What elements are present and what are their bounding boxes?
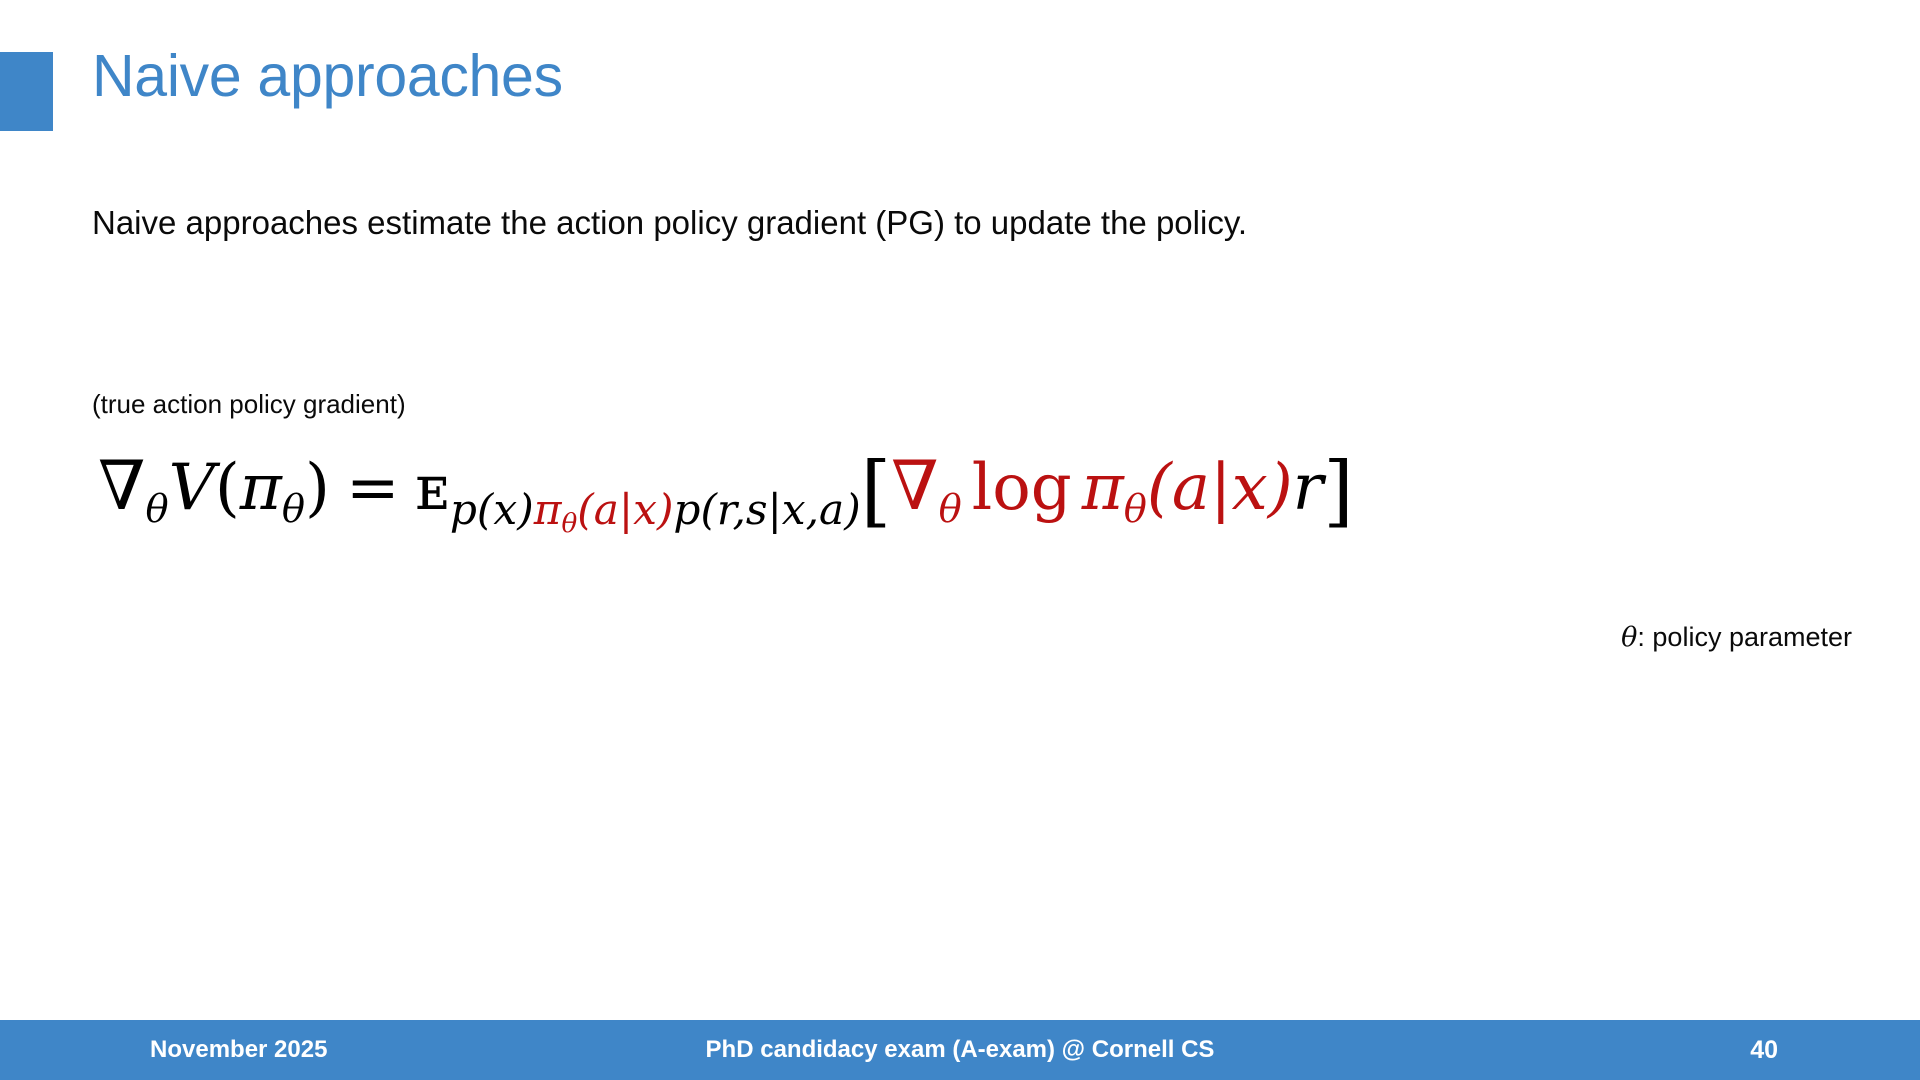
formula-expectation-subscript: p(x)πθ(a|x)p(r,s|x,a) (450, 485, 861, 534)
formula-rhs-nabla-subscript: θ (939, 486, 962, 531)
formula-rhs-policy-symbol: π (1082, 451, 1124, 525)
formula-caption: (true action policy gradient) (92, 389, 406, 420)
formula-sub-policy-theta: θ (561, 508, 577, 538)
formula-nabla-icon: ∇ (98, 447, 145, 526)
parameter-note-text: : policy parameter (1637, 622, 1852, 652)
theta-symbol: θ (1621, 622, 1637, 653)
parameter-note: θ: policy parameter (1621, 622, 1852, 653)
policy-gradient-formula: ∇θV(πθ)=ᴇp(x)πθ(a|x)p(r,s|x,a)[∇θlogπθ(a… (98, 452, 1354, 537)
formula-reward: r (1293, 451, 1324, 525)
body-paragraph: Naive approaches estimate the action pol… (92, 203, 1247, 243)
formula-policy-subscript: θ (282, 486, 305, 531)
formula-equals: = (346, 451, 400, 525)
formula-sub-state-dist: p(x) (450, 485, 534, 534)
formula-sub-transition: p(r,s|x,a) (673, 485, 860, 534)
formula-policy-symbol: π (240, 451, 282, 525)
formula-bracket-open: [ (861, 446, 891, 536)
formula-value-function: V (169, 451, 215, 525)
formula-sub-policy-args: (a|x) (577, 485, 673, 534)
footer-title: PhD candidacy exam (A-exam) @ Cornell CS (0, 1020, 1920, 1080)
formula-rhs-policy-args: (a|x) (1147, 451, 1293, 525)
formula-log: log (972, 451, 1072, 525)
slide-footer: November 2025 PhD candidacy exam (A-exam… (0, 1020, 1920, 1080)
formula-bracket-close: ] (1323, 446, 1353, 536)
footer-page-number: 40 (1750, 1020, 1778, 1080)
title-accent-bar (0, 52, 53, 131)
formula-nabla-subscript: θ (145, 486, 168, 531)
formula-rhs-nabla-icon: ∇ (891, 447, 938, 526)
page-title: Naive approaches (92, 46, 563, 108)
formula-sub-policy: π (534, 485, 562, 534)
slide: Naive approaches Naive approaches estima… (0, 0, 1920, 1080)
formula-paren-close: ) (305, 451, 330, 525)
formula-paren-open: ( (215, 451, 240, 525)
formula-expectation-symbol: ᴇ (416, 451, 450, 524)
formula-rhs-policy-subscript: θ (1124, 486, 1147, 531)
